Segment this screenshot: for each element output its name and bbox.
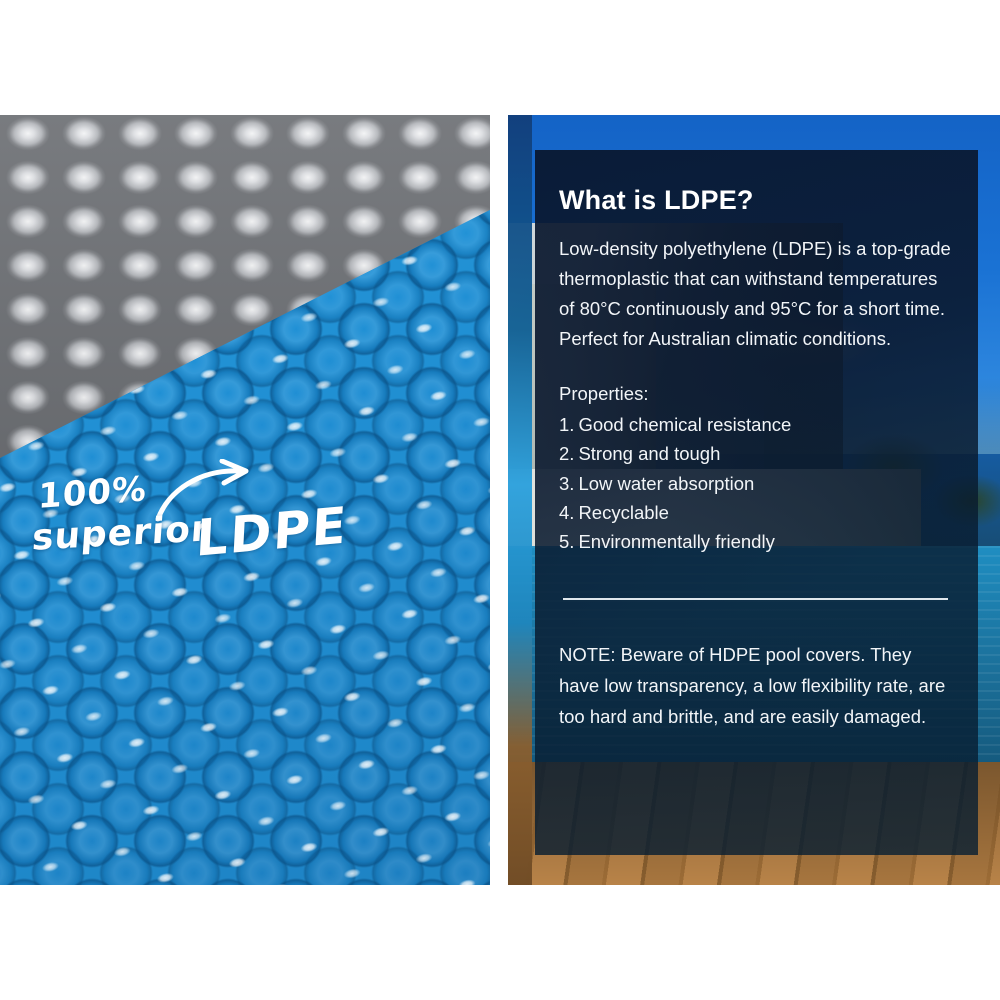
- info-card: What is LDPE? Low-density polyethylene (…: [535, 150, 978, 855]
- note-text: NOTE: Beware of HDPE pool covers. They h…: [559, 640, 954, 732]
- handwritten-callout: 100% superior LDPE: [32, 467, 332, 577]
- list-item-label: Strong and tough: [578, 439, 720, 468]
- list-item-label: Recyclable: [578, 498, 669, 527]
- callout-ldpe-text: LDPE: [195, 496, 350, 568]
- photo-left-edge-strip: [508, 115, 532, 885]
- list-item-number: 4.: [559, 498, 574, 527]
- list-item: 1. Good chemical resistance: [559, 410, 954, 439]
- section-divider: [563, 598, 948, 600]
- card-description: Low-density polyethylene (LDPE) is a top…: [559, 234, 954, 354]
- list-item-number: 1.: [559, 410, 574, 439]
- list-item: 3. Low water absorption: [559, 469, 954, 498]
- list-item-number: 2.: [559, 439, 574, 468]
- properties-heading: Properties:: [559, 380, 954, 409]
- list-item-number: 5.: [559, 527, 574, 556]
- list-item-label: Good chemical resistance: [578, 410, 791, 439]
- right-info-panel: What is LDPE? Low-density polyethylene (…: [508, 115, 1000, 885]
- list-item: 5. Environmentally friendly: [559, 527, 954, 556]
- list-item: 4. Recyclable: [559, 498, 954, 527]
- list-item-label: Environmentally friendly: [578, 527, 774, 556]
- list-item-label: Low water absorption: [578, 469, 754, 498]
- callout-percent-text: 100%: [37, 469, 147, 517]
- callout-superior-text: superior: [31, 508, 211, 559]
- card-title: What is LDPE?: [559, 186, 954, 216]
- properties-list: 1. Good chemical resistance 2. Strong an…: [559, 410, 954, 556]
- left-product-image-panel: 100% superior LDPE: [0, 115, 490, 885]
- list-item-number: 3.: [559, 469, 574, 498]
- list-item: 2. Strong and tough: [559, 439, 954, 468]
